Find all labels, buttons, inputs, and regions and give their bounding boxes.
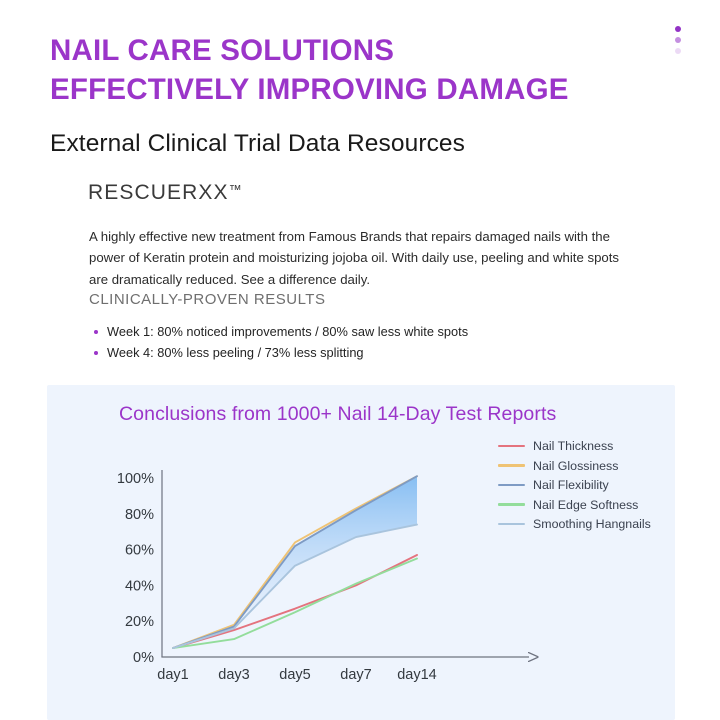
legend-item-label: Nail Edge Softness	[533, 498, 638, 512]
legend-swatch-icon	[498, 484, 525, 486]
legend-item[interactable]: Nail Edge Softness	[498, 498, 651, 512]
x-axis-tick-label: day7	[340, 667, 371, 683]
legend-item[interactable]: Nail Flexibility	[498, 478, 651, 492]
y-axis-tick-labels: 0%20%40%60%80%100%	[117, 471, 154, 666]
y-axis-tick-label: 60%	[125, 543, 154, 559]
list-item: Week 1: 80% noticed improvements / 80% s…	[92, 322, 468, 343]
list-item: Week 4: 80% less peeling / 73% less spli…	[92, 343, 468, 364]
y-axis-tick-label: 100%	[117, 471, 154, 487]
y-axis-tick-label: 80%	[125, 507, 154, 523]
chart-panel: Conclusions from 1000+ Nail 14-Day Test …	[47, 385, 675, 720]
y-axis-tick-label: 0%	[133, 650, 154, 666]
x-axis-tick-label: day5	[279, 667, 310, 683]
page-headline: NAIL CARE SOLUTIONS EFFECTIVELY IMPROVIN…	[50, 31, 569, 109]
line-chart-graphic: 0%20%40%60%80%100% day1day3day5day7day14	[47, 385, 675, 720]
kebab-dot-1	[675, 26, 681, 32]
kebab-dot-2	[675, 37, 681, 43]
y-axis-tick-label: 20%	[125, 614, 154, 630]
x-axis-tick-label: day14	[397, 667, 437, 683]
legend-swatch-icon	[498, 464, 525, 466]
product-name: RESCUERXX™	[88, 181, 242, 205]
chart-plot-area	[173, 476, 417, 648]
clinical-results-list: Week 1: 80% noticed improvements / 80% s…	[92, 322, 468, 363]
legend-item-label: Nail Flexibility	[533, 478, 609, 492]
y-axis-tick-label: 40%	[125, 578, 154, 594]
legend-swatch-icon	[498, 503, 525, 505]
legend-item-label: Nail Thickness	[533, 439, 613, 453]
headline-line-2: EFFECTIVELY IMPROVING DAMAGE	[50, 70, 569, 109]
product-description: A highly effective new treatment from Fa…	[89, 226, 622, 290]
nail-care-infographic-page: NAIL CARE SOLUTIONS EFFECTIVELY IMPROVIN…	[0, 0, 720, 720]
page-subheadline: External Clinical Trial Data Resources	[50, 130, 465, 158]
legend-item-label: Nail Glossiness	[533, 459, 618, 473]
trademark-symbol: ™	[229, 182, 242, 197]
x-axis-tick-label: day3	[218, 667, 249, 683]
legend-item-label: Smoothing Hangnails	[533, 517, 651, 531]
clinical-results-label: CLINICALLY-PROVEN RESULTS	[89, 291, 325, 308]
chart-area-fill	[173, 476, 417, 648]
legend-swatch-icon	[498, 445, 525, 447]
headline-line-1: NAIL CARE SOLUTIONS	[50, 34, 394, 67]
product-name-text: RESCUERXX	[88, 181, 229, 204]
legend-item[interactable]: Smoothing Hangnails	[498, 517, 651, 531]
legend-item[interactable]: Nail Glossiness	[498, 459, 651, 473]
x-axis-tick-labels: day1day3day5day7day14	[157, 667, 436, 683]
legend-swatch-icon	[498, 523, 525, 525]
kebab-menu-icon[interactable]	[675, 26, 681, 54]
legend-item[interactable]: Nail Thickness	[498, 439, 651, 453]
kebab-dot-3	[675, 48, 681, 54]
x-axis-tick-label: day1	[157, 667, 188, 683]
chart-legend: Nail ThicknessNail GlossinessNail Flexib…	[498, 439, 651, 531]
